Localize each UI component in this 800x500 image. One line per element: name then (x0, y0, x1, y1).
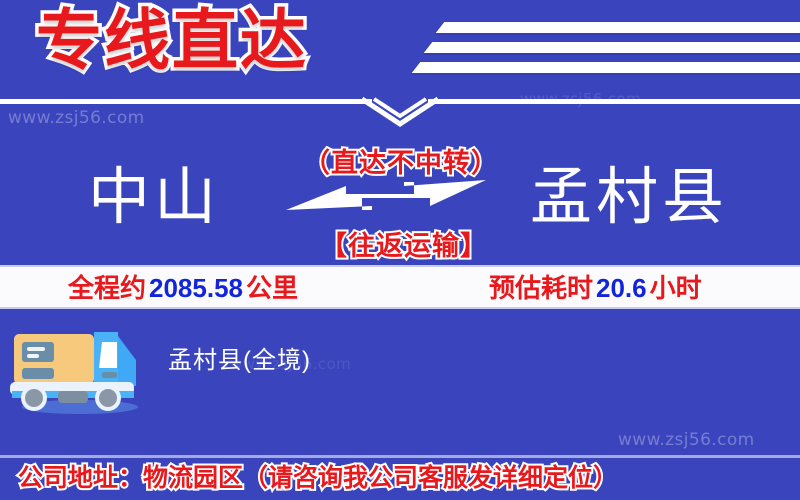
duration-label-suffix: 小时 (650, 273, 702, 303)
logistics-route-banner: 专线直达 www.zsj56.com www.zsj56.com www.zsj… (0, 0, 800, 500)
header-divider-left (0, 99, 372, 104)
distance-value: 2085.58 (146, 273, 246, 303)
chevron-down-icon (360, 96, 440, 130)
bidirectional-arrow-icon (286, 176, 486, 218)
headline-title: 专线直达 (36, 2, 308, 78)
direct-route-badge: （直达不中转） (303, 141, 499, 180)
header-divider-right (428, 99, 800, 104)
footer-divider (0, 455, 800, 458)
coverage-area-label: 孟村县(全境) (168, 345, 311, 377)
total-distance: 全程约2085.58公里 (68, 272, 298, 304)
distance-label-prefix: 全程约 (68, 273, 146, 303)
duration-value: 20.6 (593, 273, 650, 303)
estimated-duration: 预估耗时20.6小时 (489, 272, 702, 304)
decorative-stripe-3 (412, 62, 800, 73)
company-address-note: 公司地址：物流园区（请咨询我公司客服发详细定位） (18, 460, 618, 496)
decorative-stripe-1 (436, 22, 800, 33)
watermark-top-left: www.zsj56.com (8, 108, 145, 128)
route-info-bar: 全程约2085.58公里 预估耗时20.6小时 (0, 265, 800, 309)
banner-header: 专线直达 (0, 0, 800, 110)
watermark-bottom-right: www.zsj56.com (618, 430, 755, 450)
origin-city-label: 中山 (88, 163, 220, 233)
decorative-stripe-2 (424, 42, 800, 53)
delivery-truck-icon (6, 312, 154, 416)
distance-label-suffix: 公里 (246, 273, 298, 303)
duration-label-prefix: 预估耗时 (489, 273, 593, 303)
destination-city-label: 孟村县 (530, 163, 728, 233)
round-trip-badge: 【往返运输】 (320, 224, 488, 263)
